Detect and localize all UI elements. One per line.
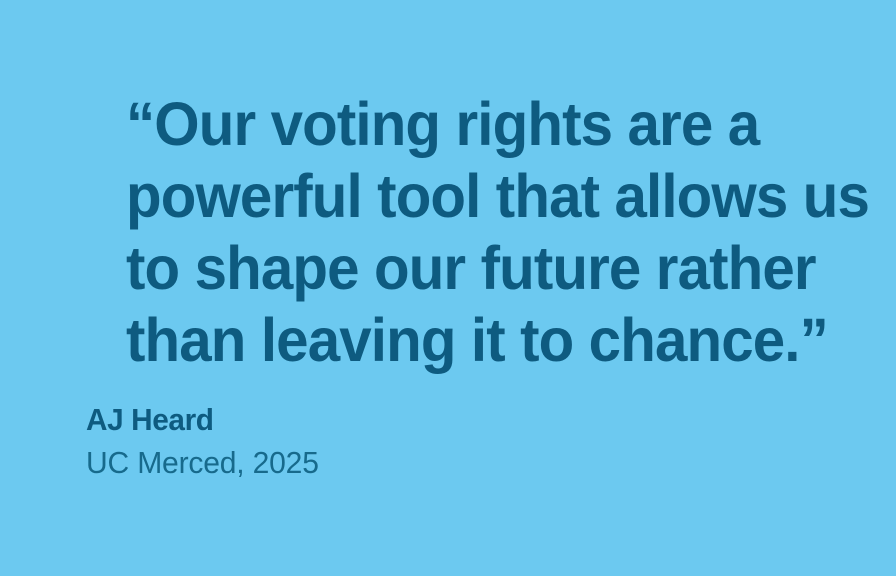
attribution-name: AJ Heard — [86, 398, 758, 441]
quote-line-3: to shape our future rather — [126, 232, 852, 304]
quote-block: “Our voting rights are a powerful tool t… — [126, 88, 886, 376]
quote-line-1: “Our voting rights are a — [126, 88, 852, 160]
pull-quote-card: “Our voting rights are a powerful tool t… — [0, 0, 896, 576]
quote-line-4: than leaving it to chance.” — [126, 304, 852, 376]
attribution-affiliation: UC Merced, 2025 — [86, 441, 765, 485]
quote-line-2: powerful tool that allows us — [126, 160, 852, 232]
attribution-block: AJ Heard UC Merced, 2025 — [86, 398, 786, 485]
